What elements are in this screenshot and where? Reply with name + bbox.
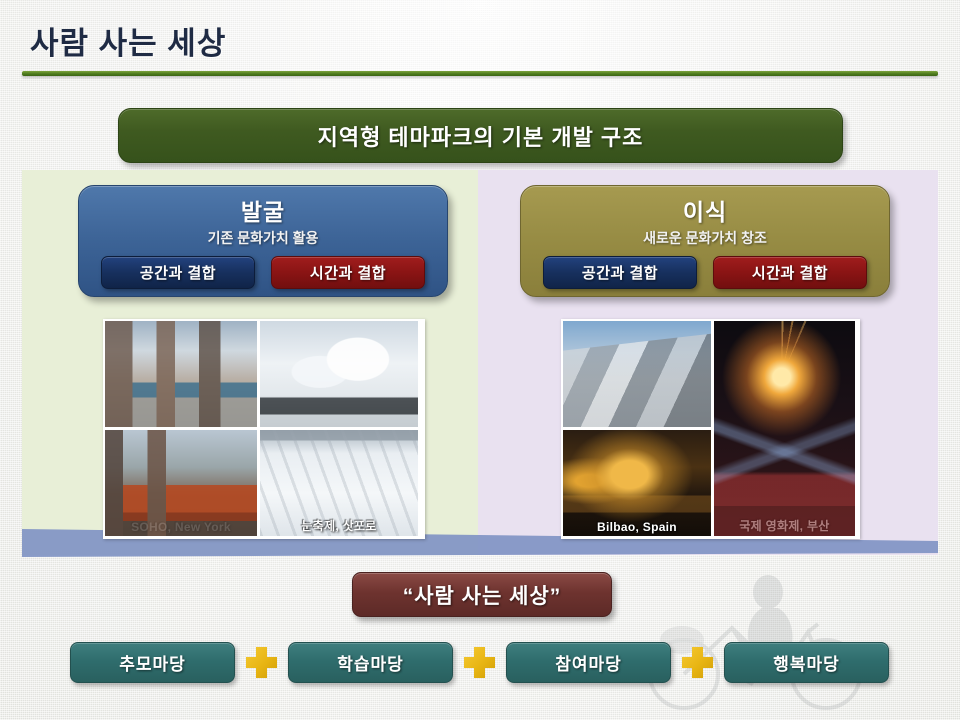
page-title: 사람 사는 세상 bbox=[30, 18, 226, 63]
nav-button-happiness[interactable]: 행복마당 bbox=[724, 642, 889, 683]
photo-soho-art-market: SOHO, New York bbox=[105, 430, 257, 536]
chip-row-right: 공간과 결합 시간과 결합 bbox=[521, 256, 889, 289]
photo-soho-street bbox=[105, 321, 257, 427]
nav-button-participation[interactable]: 참여마당 bbox=[506, 642, 671, 683]
bottom-banner-label: “사람 사는 세상” bbox=[403, 580, 562, 610]
title-divider bbox=[22, 71, 938, 76]
chip-space-combination-right[interactable]: 공간과 결합 bbox=[543, 256, 697, 289]
chip-time-combination-right[interactable]: 시간과 결합 bbox=[713, 256, 867, 289]
category-subtitle-left: 기존 문화가치 활용 bbox=[79, 228, 447, 248]
plus-cross-icon bbox=[464, 647, 495, 678]
photo-caption-sapporo: 눈축제, 삿포로 bbox=[260, 517, 418, 534]
photo-snow-sculpture bbox=[260, 321, 418, 427]
plus-cross-icon bbox=[246, 647, 277, 678]
photo-sapporo-festival: 눈축제, 삿포로 bbox=[260, 430, 418, 536]
bottom-banner: “사람 사는 세상” bbox=[352, 572, 612, 617]
photo-caption-busan: 국제 영화제, 부산 bbox=[714, 517, 855, 534]
photo-caption-soho: SOHO, New York bbox=[105, 520, 257, 534]
category-title-left: 발굴 bbox=[79, 193, 447, 227]
chip-space-combination-left[interactable]: 공간과 결합 bbox=[101, 256, 255, 289]
chip-time-combination-left[interactable]: 시간과 결합 bbox=[271, 256, 425, 289]
slide-canvas: 사람 사는 세상 지역형 테마파크의 기본 개발 구조 발굴 기존 문화가치 활… bbox=[0, 0, 960, 720]
header-banner-label: 지역형 테마파크의 기본 개발 구조 bbox=[318, 120, 644, 152]
chip-row-left: 공간과 결합 시간과 결합 bbox=[79, 256, 447, 289]
nav-button-learning[interactable]: 학습마당 bbox=[288, 642, 453, 683]
photo-busan-film-festival: 국제 영화제, 부산 bbox=[714, 321, 855, 536]
photo-caption-bilbao: Bilbao, Spain bbox=[563, 520, 711, 534]
bottom-nav: 추모마당 학습마당 참여마당 행복마당 bbox=[70, 641, 890, 683]
photo-guggenheim-night: Bilbao, Spain bbox=[563, 430, 711, 536]
nav-button-memorial[interactable]: 추모마당 bbox=[70, 642, 235, 683]
photo-guggenheim-day bbox=[563, 321, 711, 427]
category-title-right: 이식 bbox=[521, 193, 889, 227]
plus-cross-icon bbox=[682, 647, 713, 678]
category-card-excavation: 발굴 기존 문화가치 활용 공간과 결합 시간과 결합 bbox=[78, 185, 448, 297]
header-banner: 지역형 테마파크의 기본 개발 구조 bbox=[118, 108, 843, 163]
category-card-transplant: 이식 새로운 문화가치 창조 공간과 결합 시간과 결합 bbox=[520, 185, 890, 297]
photo-grid-left: SOHO, New York 눈축제, 삿포로 bbox=[103, 319, 425, 539]
category-subtitle-right: 새로운 문화가치 창조 bbox=[521, 228, 889, 248]
photo-grid-right: 국제 영화제, 부산 Bilbao, Spain bbox=[561, 319, 860, 539]
